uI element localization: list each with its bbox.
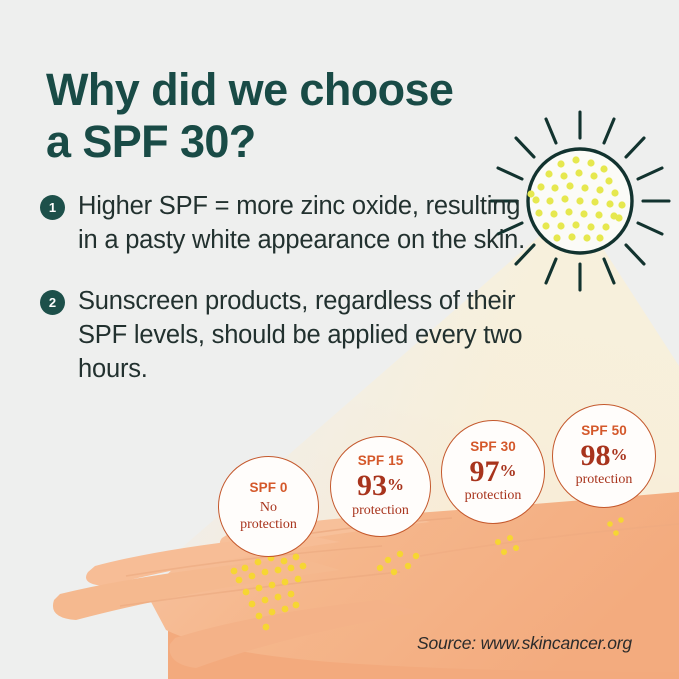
infographic-canvas: Why did we choose a SPF 30? 1 Higher SPF… [0, 0, 679, 679]
point-number-badge: 1 [40, 195, 65, 220]
percent-symbol: % [611, 445, 628, 464]
list-item: 2 Sunscreen products, regardless of thei… [40, 285, 540, 386]
point-text: Higher SPF = more zinc oxide, resulting … [78, 190, 540, 257]
spf-level-label: SPF 0 [249, 480, 287, 495]
spf-protection-text: protection [352, 503, 409, 520]
spf-circle-15: SPF 15 93% protection [330, 436, 431, 537]
spf-protection-text: protection [465, 488, 522, 505]
spf-percent-value: 93% [357, 470, 404, 502]
source-attribution: Source: www.skincancer.org [417, 633, 632, 654]
page-title-line1: Why did we choose [46, 64, 453, 115]
numbered-points-list: 1 Higher SPF = more zinc oxide, resultin… [40, 190, 540, 414]
spf-protection-line2: protection [240, 517, 297, 532]
spf-protection-text: protection [576, 472, 633, 489]
spf-circle-50: SPF 50 98% protection [552, 404, 656, 508]
page-title-line2: a SPF 30? [46, 116, 606, 168]
spf-percent-number: 98 [581, 439, 611, 472]
point-number-badge: 2 [40, 290, 65, 315]
spf-percent-value: 97% [470, 456, 517, 488]
spf-circle-30: SPF 30 97% protection [441, 420, 545, 524]
spf-percent-value: 98% [581, 440, 628, 472]
spf-protection-line1: No [260, 500, 277, 515]
spf-protection-text: No protection [240, 500, 297, 533]
page-title: Why did we choose a SPF 30? [46, 64, 606, 168]
list-item: 1 Higher SPF = more zinc oxide, resultin… [40, 190, 540, 257]
spf-level-label: SPF 15 [358, 453, 404, 468]
spf-percent-number: 93 [357, 469, 387, 502]
percent-symbol: % [387, 475, 404, 494]
spf-circle-0: SPF 0 No protection [218, 456, 319, 557]
spf-level-label: SPF 50 [581, 423, 627, 438]
percent-symbol: % [500, 461, 517, 480]
spf-percent-number: 97 [470, 455, 500, 488]
point-text: Sunscreen products, regardless of their … [78, 285, 540, 386]
spf-level-label: SPF 30 [470, 439, 516, 454]
